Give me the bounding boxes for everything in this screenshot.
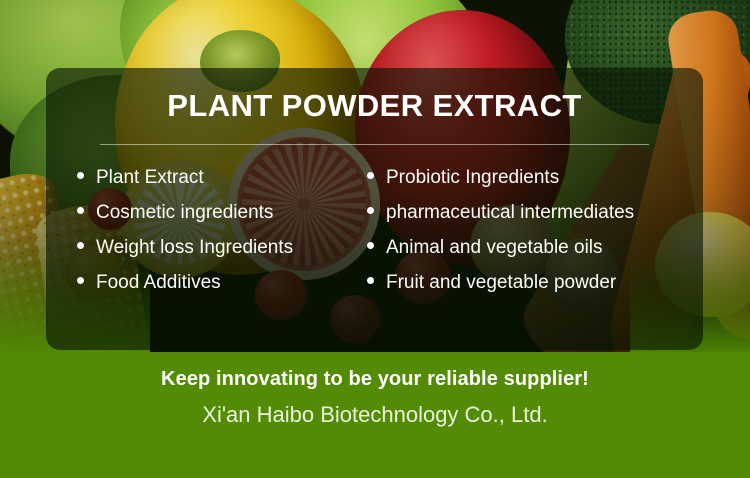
footer-band: Keep innovating to be your reliable supp… bbox=[0, 352, 750, 478]
list-item[interactable]: pharmaceutical intermediates bbox=[367, 203, 703, 238]
title-divider bbox=[100, 144, 649, 145]
page-title: PLANT POWDER EXTRACT bbox=[46, 88, 703, 124]
bullet-dot-icon bbox=[367, 277, 374, 284]
product-list: Plant Extract Cosmetic ingredients Weigh… bbox=[46, 168, 703, 308]
footer-company-name: Xi'an Haibo Biotechnology Co., Ltd. bbox=[0, 402, 750, 428]
list-item-label: Fruit and vegetable powder bbox=[386, 273, 616, 292]
footer-tagline: Keep innovating to be your reliable supp… bbox=[0, 368, 750, 391]
plant-powder-extract-banner: PLANT POWDER EXTRACT Plant Extract Cosme… bbox=[0, 0, 750, 478]
list-item-label: pharmaceutical intermediates bbox=[386, 203, 634, 222]
list-item[interactable]: Weight loss Ingredients bbox=[77, 238, 356, 273]
list-item[interactable]: Cosmetic ingredients bbox=[77, 203, 356, 238]
list-item[interactable]: Food Additives bbox=[77, 273, 356, 308]
bullet-dot-icon bbox=[77, 172, 84, 179]
list-item-label: Animal and vegetable oils bbox=[386, 238, 603, 257]
bullet-dot-icon bbox=[77, 277, 84, 284]
list-item-label: Weight loss Ingredients bbox=[96, 238, 293, 257]
list-item[interactable]: Animal and vegetable oils bbox=[367, 238, 703, 273]
bullet-dot-icon bbox=[367, 242, 374, 249]
bullet-dot-icon bbox=[77, 242, 84, 249]
bullet-dot-icon bbox=[367, 207, 374, 214]
list-item[interactable]: Fruit and vegetable powder bbox=[367, 273, 703, 308]
list-item-label: Probiotic Ingredients bbox=[386, 168, 559, 187]
bullet-dot-icon bbox=[77, 207, 84, 214]
product-list-right-column: Probiotic Ingredients pharmaceutical int… bbox=[356, 168, 703, 308]
bullet-dot-icon bbox=[367, 172, 374, 179]
list-item-label: Plant Extract bbox=[96, 168, 204, 187]
product-list-left-column: Plant Extract Cosmetic ingredients Weigh… bbox=[46, 168, 356, 308]
list-item-label: Food Additives bbox=[96, 273, 221, 292]
list-item[interactable]: Probiotic Ingredients bbox=[367, 168, 703, 203]
list-item[interactable]: Plant Extract bbox=[77, 168, 356, 203]
content-panel: PLANT POWDER EXTRACT Plant Extract Cosme… bbox=[46, 68, 703, 350]
list-item-label: Cosmetic ingredients bbox=[96, 203, 273, 222]
